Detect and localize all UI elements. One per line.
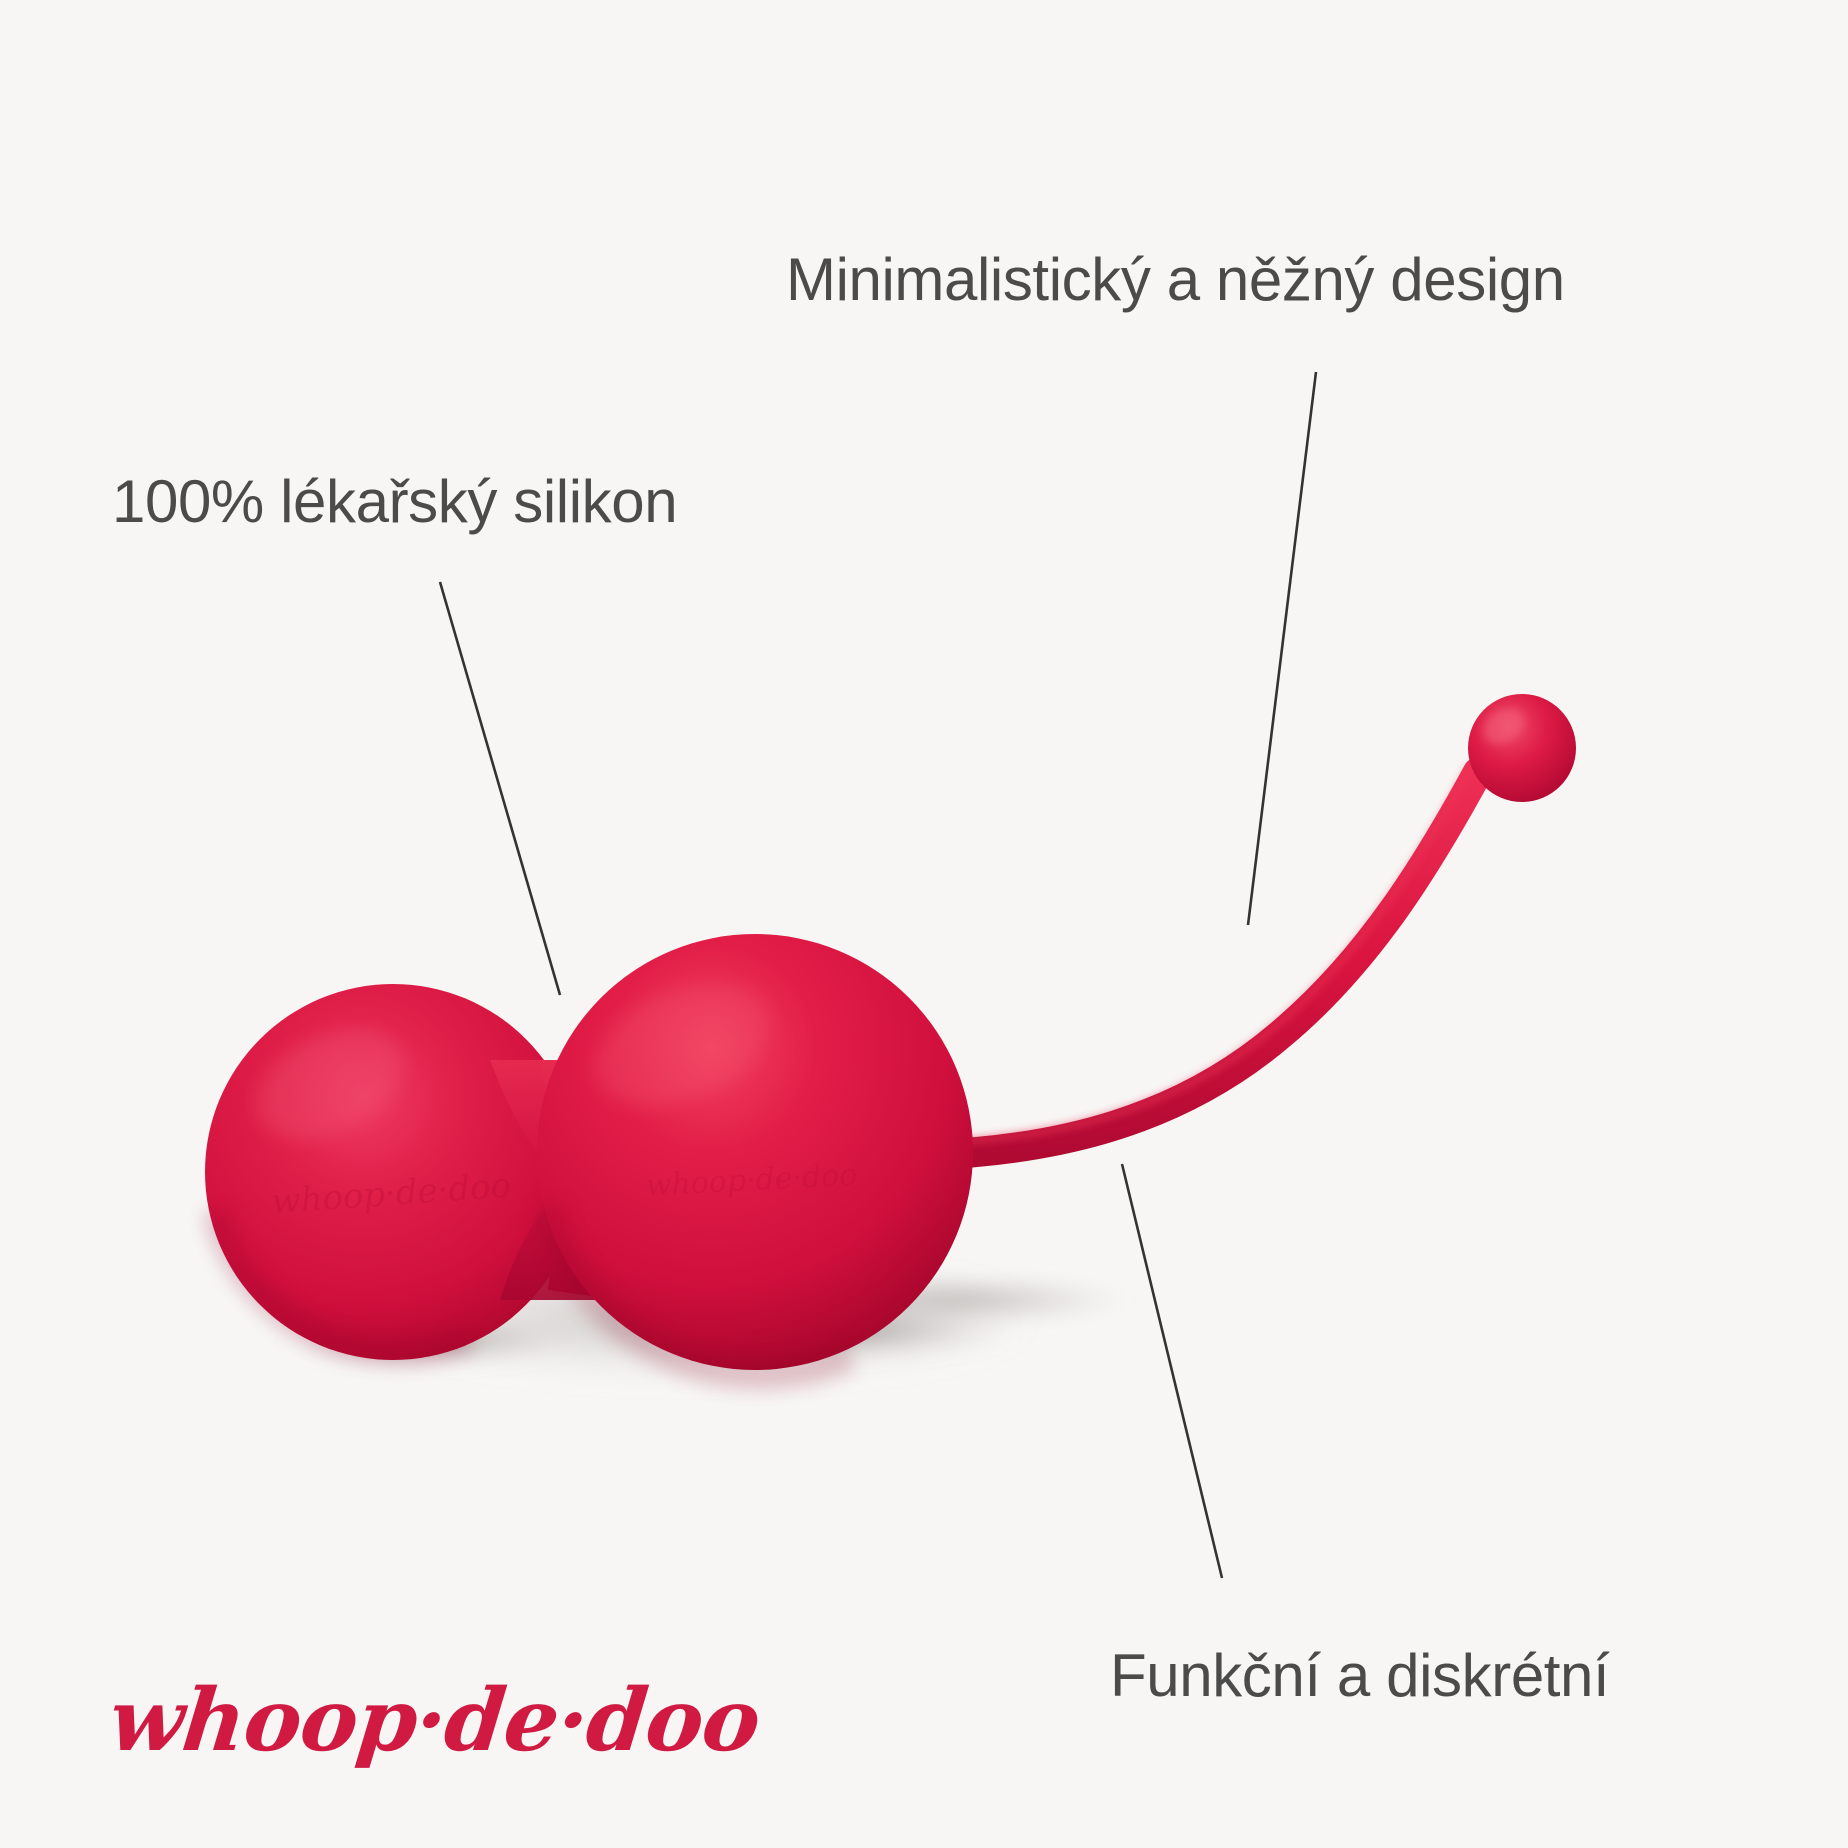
leader-line-discreet (1122, 1164, 1222, 1578)
annotation-label-design: Minimalistický a něžný design (786, 248, 1565, 311)
brand-logo-text: whoop·de·doo (105, 1678, 664, 1764)
annotation-label-discreet: Funkční a diskrétní (1110, 1644, 1609, 1707)
annotation-label-silicone: 100% lékařský silikon (112, 470, 677, 533)
leader-line-silicone (440, 582, 560, 995)
leader-line-design (1248, 372, 1316, 925)
brand-logo: whoop·de·doo (110, 1678, 660, 1818)
product-tail-end-bulb (1468, 694, 1576, 802)
product-ball-left: whoop·de·doo (205, 984, 581, 1360)
infographic-canvas: whoop·de·doo whoop·de·doo Minimalistický… (0, 0, 1848, 1848)
product-tail-cord (930, 768, 1478, 1155)
